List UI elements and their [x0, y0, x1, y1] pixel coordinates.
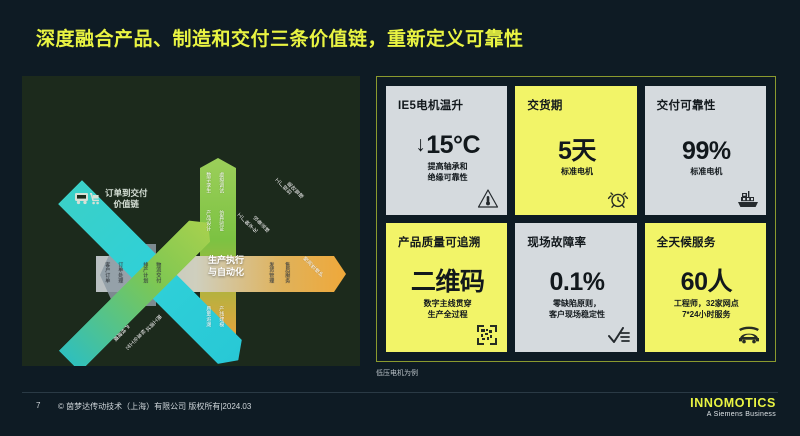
page-title: 深度融合产品、制造和交付三条价值链，重新定义可靠性 [36, 24, 524, 51]
card-sub-line2: 客户现场稳定性 [549, 310, 605, 319]
card-subtitle: 工程师，32家网点 7*24小时服务 [674, 298, 739, 321]
card-subtitle: 提高轴承和 绝缘可靠性 [428, 161, 468, 184]
checklist-icon [607, 325, 629, 347]
value-chain-diagram: 数字孪生 虚拟调试 产品设计 仿真验证 质量追溯 产线建模 客户订单 订单处理 … [22, 76, 360, 366]
card-sub-line1: 数字主线贯穿 [424, 299, 472, 308]
card-sub-line1: 标准电机 [690, 167, 722, 176]
arrow-label-h-4: 物流交付 [155, 262, 161, 283]
card-sub-line1: 标准电机 [561, 167, 593, 176]
chain-label-factory-lifecycle: 工厂生命周期 价值链 [48, 364, 138, 366]
arrow-label-v-1: 数字孪生 [205, 172, 211, 193]
kpi-card-delivery-reliability[interactable]: 交付可靠性 99% 标准电机 [645, 86, 766, 215]
arrow-label-v-2: 虚拟调试 [218, 172, 224, 193]
card-value: 5天 [558, 138, 596, 164]
kpi-card-quality-traceability[interactable]: 产品质量可追溯 二维码 数字主线贯穿 生产全过程 [386, 223, 507, 352]
card-value-text: 0.1% [550, 269, 605, 295]
arrow-label-h-3: 排产计划 [142, 262, 148, 283]
kpi-card-all-day-service[interactable]: 全天候服务 60人 工程师，32家网点 7*24小时服务 [645, 223, 766, 352]
chain-label-order-to-delivery: 订单到交付 价值链 [74, 188, 148, 211]
arrow-label-v-6: 产线建模 [218, 306, 224, 327]
card-value: 二维码 [411, 269, 485, 295]
arrow-label-dd-2: 标准化工艺 [124, 328, 147, 351]
alarm-clock-icon [607, 188, 629, 210]
card-value: ↓ 15°C [415, 132, 480, 158]
brand-name: INNOMOTICS [690, 396, 776, 410]
arrow-label-v-3: 产品设计 [205, 210, 211, 231]
chain-order-line1: 订单到交付 [105, 188, 148, 198]
center-label-line1: 生产执行 [208, 255, 244, 265]
card-value-text: 99% [682, 138, 731, 164]
arrow-label-dd-3: 施工调试 [143, 313, 162, 332]
thermometer-warning-icon [477, 188, 499, 210]
arrow-label-h-6: 售后服务 [284, 262, 290, 283]
arrow-label-h-5: 发货管理 [268, 262, 274, 283]
card-subtitle: 标准电机 [561, 166, 593, 178]
qr-code-icon [477, 325, 499, 347]
card-value-text: 二维码 [411, 269, 485, 295]
card-sub-line2: 绝缘可靠性 [428, 173, 468, 182]
kpi-card-ie5-temperature-rise[interactable]: IE5电机温升 ↓ 15°C 提高轴承和 绝缘可靠性 [386, 86, 507, 215]
page-number: 7 [36, 401, 40, 410]
service-car-icon [736, 325, 758, 347]
card-sub-line2: 生产全过程 [428, 310, 468, 319]
kpi-card-delivery-time[interactable]: 交货期 5天 标准电机 [515, 86, 636, 215]
card-value: 99% [682, 138, 731, 164]
card-subtitle: 标准电机 [690, 166, 722, 178]
card-sub-line1: 提高轴承和 [428, 162, 468, 171]
down-arrow-icon: ↓ [415, 134, 425, 156]
copyright-text: © 茵梦达传动技术（上海）有限公司 版权所有|2024.03 [58, 401, 251, 412]
card-value: 60人 [681, 269, 732, 295]
arrow-label-v-4: 仿真验证 [218, 210, 224, 231]
kpi-card-grid: IE5电机温升 ↓ 15°C 提高轴承和 绝缘可靠性 [376, 76, 776, 362]
arrow-label-v-5: 质量追溯 [205, 306, 211, 327]
diagram-center-label: 生产执行 与自动化 [188, 254, 264, 278]
factory-icon [48, 364, 82, 366]
kpi-card-field-failure-rate[interactable]: 现场故障率 0.1% 零缺陷原则， 客户现场稳定性 [515, 223, 636, 352]
card-value: 0.1% [550, 269, 605, 295]
footer-divider [22, 392, 778, 393]
card-subtitle: 数字主线贯穿 生产全过程 [424, 298, 472, 321]
card-subtitle: 零缺陷原则， 客户现场稳定性 [549, 298, 605, 321]
kpi-footnote: 低压电机为例 [376, 368, 418, 378]
card-value-text: 15°C [426, 132, 480, 158]
card-value-text: 60人 [681, 269, 732, 295]
center-label-line2: 与自动化 [208, 267, 244, 277]
arrow-label-h-1: 客户订单 [104, 262, 110, 283]
brand-logo: INNOMOTICS A Siemens Business [690, 396, 776, 418]
slide-root: 深度融合产品、制造和交付三条价值链，重新定义可靠性 数字孪生 虚拟调试 产品设计… [0, 0, 800, 436]
card-sub-line1: 工程师，32家网点 [674, 299, 739, 308]
truck-cart-icon [74, 189, 100, 210]
arrow-label-h-2: 订单处理 [117, 262, 123, 283]
card-sub-line1: 零缺陷原则， [553, 299, 601, 308]
card-value-text: 5天 [558, 138, 596, 164]
chain-order-line2: 价值链 [114, 199, 140, 209]
ship-icon [736, 188, 758, 210]
brand-tagline: A Siemens Business [690, 411, 776, 418]
card-sub-line2: 7*24小时服务 [682, 310, 730, 319]
